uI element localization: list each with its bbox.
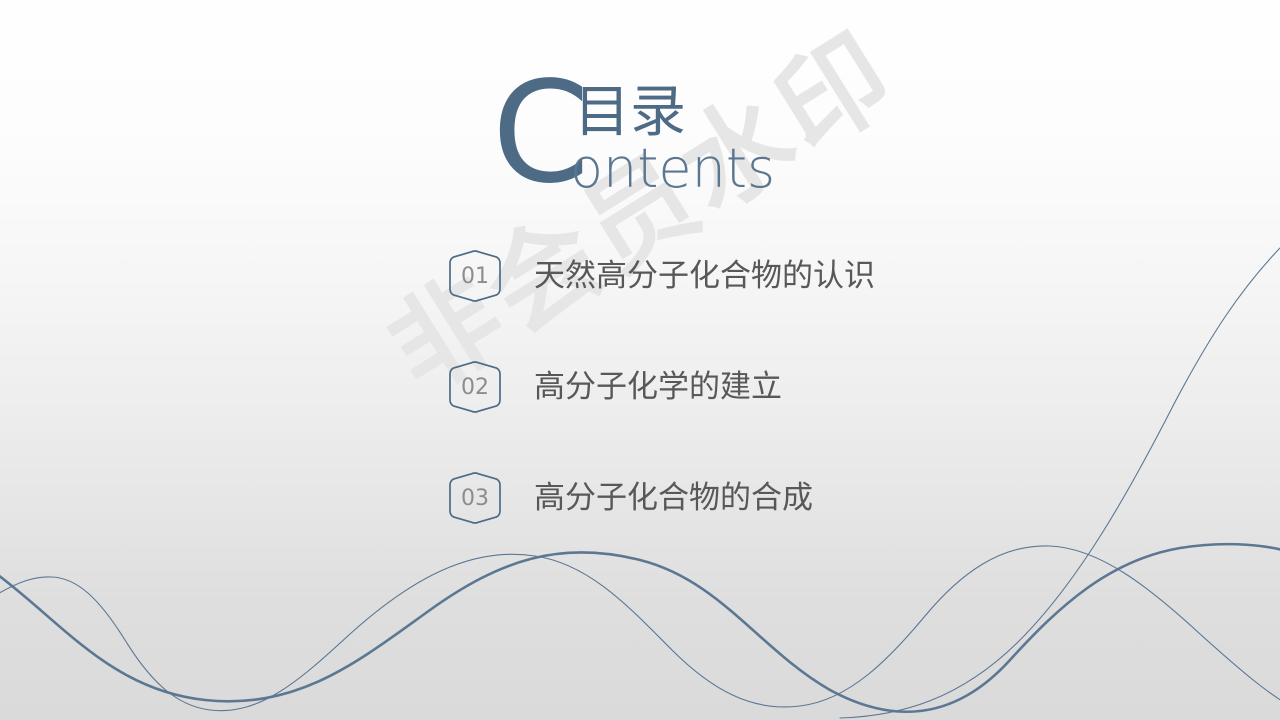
wave-curve-rising bbox=[840, 248, 1280, 718]
contents-item-label: 高分子化学的建立 bbox=[534, 359, 782, 415]
contents-item-label: 高分子化合物的合成 bbox=[534, 470, 813, 526]
contents-list: 01 天然高分子化合物的认识 02 高分子化学的建立 03 高分子化合物的合成 bbox=[448, 248, 875, 526]
slide-canvas: 非会员水印 C 目录 ontents 01 天然高分子化合物的认识 bbox=[0, 0, 1280, 720]
hexagon-badge-icon: 02 bbox=[448, 359, 502, 415]
contents-item-01[interactable]: 01 天然高分子化合物的认识 bbox=[448, 248, 875, 304]
slide-title: C 目录 ontents bbox=[0, 78, 1280, 213]
contents-item-number: 03 bbox=[448, 470, 502, 526]
hexagon-badge-icon: 01 bbox=[448, 248, 502, 304]
contents-item-02[interactable]: 02 高分子化学的建立 bbox=[448, 359, 875, 415]
title-chinese: 目录 bbox=[574, 84, 686, 142]
title-english: ontents bbox=[570, 140, 775, 198]
wave-curve-thick bbox=[0, 544, 1280, 712]
hexagon-badge-icon: 03 bbox=[448, 470, 502, 526]
wave-curve-thin bbox=[0, 546, 1280, 711]
contents-item-03[interactable]: 03 高分子化合物的合成 bbox=[448, 470, 875, 526]
contents-item-number: 02 bbox=[448, 359, 502, 415]
contents-item-number: 01 bbox=[448, 248, 502, 304]
contents-item-label: 天然高分子化合物的认识 bbox=[534, 248, 875, 304]
